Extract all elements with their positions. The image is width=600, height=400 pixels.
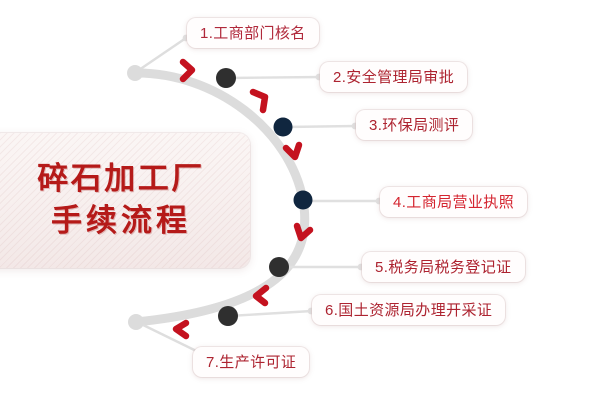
step-label-4[interactable]: 4.工商局营业执照	[380, 187, 527, 217]
connector-line-6	[229, 311, 312, 316]
step-label-text-7: 7.生产许可证	[206, 355, 296, 370]
step-node-5[interactable]	[269, 257, 289, 277]
step-label-text-5: 5.税务局税务登记证	[375, 260, 512, 275]
step-label-text-4: 4.工商局营业执照	[393, 195, 514, 210]
step-node-7[interactable]	[128, 314, 144, 330]
step-label-text-2: 2.安全管理局审批	[333, 70, 454, 85]
step-node-2[interactable]	[216, 68, 236, 88]
step-node-4[interactable]	[294, 191, 313, 210]
chevron-arrow-2	[253, 92, 265, 110]
chevron-arrow-6	[176, 323, 186, 336]
title-card: 碎石加工厂 手续流程	[0, 133, 250, 268]
step-node-3[interactable]	[274, 118, 293, 137]
connector-line-3	[285, 126, 356, 127]
step-label-5[interactable]: 5.税务局税务登记证	[362, 252, 525, 282]
step-label-2[interactable]: 2.安全管理局审批	[320, 62, 467, 92]
step-label-7[interactable]: 7.生产许可证	[193, 347, 309, 377]
step-label-6[interactable]: 6.国土资源局办理开采证	[312, 295, 505, 325]
connector-line-2	[228, 77, 320, 78]
step-label-text-6: 6.国土资源局办理开采证	[325, 303, 492, 318]
connector-line-1	[136, 38, 186, 72]
step-label-text-1: 1.工商部门核名	[200, 26, 306, 41]
chevron-arrow-1	[183, 62, 192, 79]
step-node-6[interactable]	[218, 306, 238, 326]
step-label-1[interactable]: 1.工商部门核名	[187, 18, 319, 48]
infographic-canvas: 碎石加工厂 手续流程 1.工商部门核名 2.安全管理局审批 3.环保局测评 4.…	[0, 0, 600, 400]
title-line-1: 碎石加工厂	[23, 163, 205, 196]
step-label-text-3: 3.环保局测评	[369, 118, 459, 133]
step-node-1[interactable]	[127, 65, 143, 81]
title-line-2: 手续流程	[37, 205, 191, 238]
step-label-3[interactable]: 3.环保局测评	[356, 110, 472, 140]
